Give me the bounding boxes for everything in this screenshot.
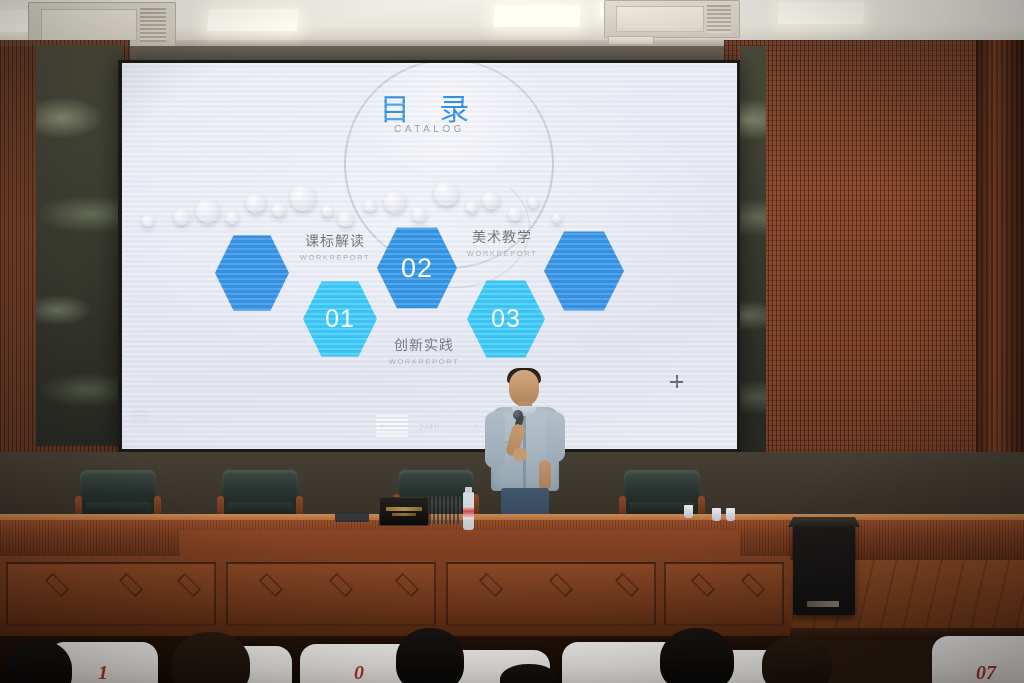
desk-nameplate bbox=[379, 497, 429, 526]
hexagon-01-number: 01 bbox=[325, 305, 355, 334]
hexagon-label-2-cn: 美术教学 bbox=[447, 227, 557, 247]
conference-hall-photo: 目 录 CATALOG 01 bbox=[0, 0, 1024, 683]
slide-title: 目 录 bbox=[122, 85, 737, 129]
audience-head bbox=[396, 628, 464, 683]
presenter bbox=[483, 368, 569, 528]
ceiling-light-panel bbox=[0, 10, 28, 32]
hexagon-03-number: 03 bbox=[491, 305, 521, 334]
drinking-cup bbox=[726, 508, 735, 521]
hexagon-item-01[interactable]: 01 bbox=[303, 279, 377, 359]
hexagon-02-number: 02 bbox=[401, 253, 433, 284]
air-vent-slats bbox=[707, 5, 731, 32]
wood-panel-section bbox=[446, 562, 656, 626]
slide-subtitle: CATALOG bbox=[122, 124, 737, 135]
nameplate-text-line bbox=[386, 507, 422, 511]
slide-next-arrow-icon[interactable]: › bbox=[474, 421, 478, 432]
bottle-cap bbox=[465, 487, 472, 493]
presenter-forearm-right bbox=[539, 460, 551, 490]
ceiling-air-vent bbox=[604, 0, 740, 38]
presenter-right-arm bbox=[545, 412, 565, 462]
panel-diamond-motif bbox=[45, 573, 69, 597]
panel-diamond-motif bbox=[259, 573, 283, 597]
hexagon-decor-left[interactable] bbox=[215, 233, 289, 313]
slide-navigation[interactable]: ‹ 2/40 › bbox=[122, 421, 737, 432]
panel-diamond-motif bbox=[691, 573, 715, 597]
hexagon-label-1: 课标解读 WORKREPORT bbox=[280, 231, 390, 262]
presentation-slide[interactable]: 目 录 CATALOG 01 bbox=[122, 63, 737, 449]
slide-prev-arrow-icon[interactable]: ‹ bbox=[380, 421, 384, 432]
hexagon-label-3-cn: 创新实践 bbox=[369, 335, 479, 355]
wood-panel-section bbox=[664, 562, 784, 626]
hexagon-label-2-en: WORKREPORT bbox=[447, 249, 557, 258]
hexagon-label-3: 创新实践 WORKREPORT bbox=[369, 335, 479, 366]
panel-diamond-motif bbox=[615, 573, 639, 597]
nameplate-text-line bbox=[392, 513, 417, 516]
loudspeaker-cabinet bbox=[793, 523, 855, 615]
speaker-brand-badge bbox=[807, 601, 839, 607]
left-stone-decor-panel bbox=[36, 46, 122, 446]
ceiling-light-panel bbox=[777, 2, 864, 24]
mouse-move-cursor-icon bbox=[670, 375, 683, 388]
presenter-left-arm bbox=[485, 412, 505, 468]
presenter-hand bbox=[513, 448, 527, 461]
hexagon-label-3-en: WORKREPORT bbox=[369, 357, 479, 366]
audience-head bbox=[762, 636, 832, 683]
air-vent-grille bbox=[41, 9, 137, 41]
drinking-cup bbox=[712, 508, 721, 521]
drinking-cup bbox=[684, 505, 693, 518]
hexagon-label-1-cn: 课标解读 bbox=[280, 231, 390, 251]
panel-diamond-motif bbox=[549, 573, 573, 597]
hexagon-label-1-en: WORKREPORT bbox=[280, 253, 390, 262]
air-vent-plate bbox=[608, 36, 654, 45]
desk-microphone bbox=[425, 496, 461, 524]
speaker-top-bevel bbox=[788, 517, 860, 527]
panel-diamond-motif bbox=[395, 573, 419, 597]
bottle-label bbox=[463, 506, 474, 519]
wood-panel-section bbox=[6, 562, 216, 626]
hexagon-label-2: 美术教学 WORKREPORT bbox=[447, 227, 557, 258]
air-vent-grille bbox=[616, 6, 704, 32]
slide-page-indicator: 2/40 bbox=[419, 422, 441, 432]
right-stone-decor-panel bbox=[740, 46, 766, 454]
ceiling-light-panel bbox=[493, 5, 581, 27]
panel-diamond-motif bbox=[479, 573, 503, 597]
panel-diamond-motif bbox=[177, 573, 201, 597]
panel-diamond-motif bbox=[119, 573, 143, 597]
desk-equipment bbox=[335, 512, 369, 522]
audience-chair-cover: 07 bbox=[932, 636, 1024, 683]
panel-diamond-motif bbox=[741, 573, 765, 597]
water-bottle bbox=[463, 492, 474, 530]
air-vent-slats bbox=[140, 8, 166, 41]
microphone-head-icon bbox=[513, 410, 523, 420]
chair-number: 07 bbox=[932, 662, 1024, 683]
audience-head bbox=[660, 628, 734, 683]
ceiling-light-panel bbox=[207, 9, 299, 31]
panel-diamond-motif bbox=[329, 573, 353, 597]
wood-panel-section bbox=[226, 562, 436, 626]
